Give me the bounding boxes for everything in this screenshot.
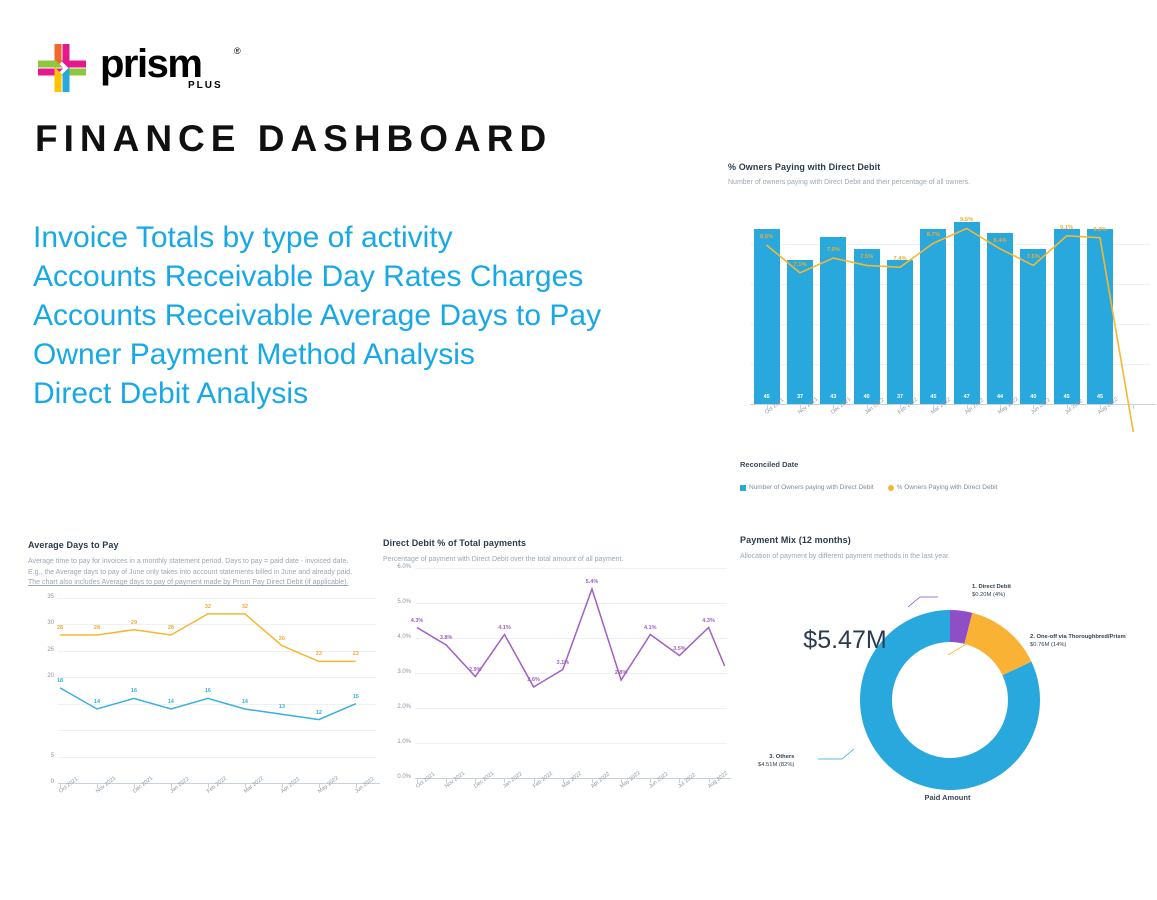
brand-registered-mark: ® <box>234 46 241 56</box>
subtitle-line: Average time to pay for invoices in a mo… <box>28 557 388 568</box>
chart-subtitle: Average time to pay for invoices in a mo… <box>28 557 388 589</box>
subtitle-line: E.g., the Average days to pay of June on… <box>28 568 388 579</box>
donut-svg <box>845 595 1055 805</box>
legend-item-line[interactable]: % Owners Paying with Direct Debit <box>888 484 998 491</box>
chart-subtitle: Number of owners paying with Direct Debi… <box>728 178 1157 189</box>
line-plot-area: 3530252050282829283232262323181416141614… <box>58 598 376 783</box>
donut-callout-name: 3. Others <box>758 753 794 761</box>
chart-title: Direct Debit % of Total payments <box>383 538 743 548</box>
brand-logo: prism ® PLUS <box>36 40 296 100</box>
list-item: Accounts Receivable Day Rates Charges <box>33 257 693 296</box>
page-title: FINANCE DASHBOARD <box>35 118 552 160</box>
bar-plot-area: 4537434037454744404545Oct 2021Nov 2021De… <box>750 204 1150 404</box>
donut-callout-name: 1. Direct Debit <box>972 583 1011 591</box>
brand-wordmark: prism <box>100 40 201 88</box>
percent-line <box>750 204 1157 404</box>
list-item: Accounts Receivable Average Days to Pay <box>33 296 693 335</box>
y-tick-label: 1.0% <box>389 739 411 745</box>
donut-callout-name: 2. One-off via Thoroughbred/Prism <box>1030 633 1126 641</box>
y-tick-label: 5.0% <box>389 599 411 605</box>
chart-title: Average Days to Pay <box>28 540 388 550</box>
line-series <box>415 568 727 778</box>
chart-payment-mix: Payment Mix (12 months) Allocation of pa… <box>740 535 1155 815</box>
list-item: Owner Payment Method Analysis <box>33 335 693 374</box>
y-tick-label: 35 <box>36 594 54 600</box>
axis-tick <box>1133 405 1134 409</box>
chart-average-days-to-pay: Average Days to Pay Average time to pay … <box>28 540 388 810</box>
donut-callout-value: $0.76M (14%) <box>1030 641 1126 649</box>
y-tick-label: 4.0% <box>389 634 411 640</box>
line-series-group <box>58 598 376 783</box>
chart-owners-direct-debit: % Owners Paying with Direct Debit Number… <box>728 162 1157 502</box>
legend-dot-icon <box>888 485 894 491</box>
donut-slice[interactable] <box>964 613 1031 675</box>
prism-plus-mark-icon <box>36 42 88 94</box>
brand-subtitle: PLUS <box>188 80 223 91</box>
legend-swatch-icon <box>740 485 746 491</box>
donut-callout: 2. One-off via Thoroughbred/Prism$0.76M … <box>1030 633 1126 649</box>
legend-item-bars[interactable]: Number of Owners paying with Direct Debi… <box>740 484 874 491</box>
donut-callout-value: $0.20M (4%) <box>972 591 1011 599</box>
chart-title: Payment Mix (12 months) <box>740 535 1155 545</box>
list-item: Direct Debit Analysis <box>33 374 693 413</box>
chart-title: % Owners Paying with Direct Debit <box>728 162 1157 172</box>
y-tick-label: 20 <box>36 673 54 679</box>
donut-callout: 3. Others$4.51M (82%) <box>758 753 794 769</box>
y-tick-label: 2.0% <box>389 704 411 710</box>
list-item: Invoice Totals by type of activity <box>33 218 693 257</box>
subtitle-line-underlined: The chart also includes Average days to … <box>28 578 388 589</box>
donut-callout: 1. Direct Debit$0.20M (4%) <box>972 583 1011 599</box>
chart-direct-debit-pct: Direct Debit % of Total payments Percent… <box>383 538 743 808</box>
donut-graphic <box>845 595 1055 805</box>
y-tick-label: 0 <box>36 779 54 785</box>
chart-subtitle: Percentage of payment with Direct Debit … <box>383 555 743 566</box>
x-axis-label: Reconciled Date <box>740 460 798 469</box>
line-plot-area: 0.0%1.0%2.0%3.0%4.0%5.0%6.0%4.3%3.8%2.9%… <box>415 568 727 778</box>
y-tick-label: 0.0% <box>389 774 411 780</box>
donut-footer-label: Paid Amount <box>740 793 1155 802</box>
chart-subtitle: Allocation of payment by different payme… <box>740 552 1155 563</box>
legend-label: % Owners Paying with Direct Debit <box>897 484 998 491</box>
y-tick-label: 5 <box>36 753 54 759</box>
y-tick-label: 30 <box>36 620 54 626</box>
y-tick-label: 3.0% <box>389 669 411 675</box>
chart-legend: Number of Owners paying with Direct Debi… <box>740 484 1007 491</box>
legend-label: Number of Owners paying with Direct Debi… <box>749 484 874 491</box>
donut-callout-value: $4.51M (82%) <box>758 761 794 769</box>
y-tick-label: 25 <box>36 647 54 653</box>
y-tick-label: 6.0% <box>389 564 411 570</box>
topic-list: Invoice Totals by type of activity Accou… <box>33 218 693 413</box>
